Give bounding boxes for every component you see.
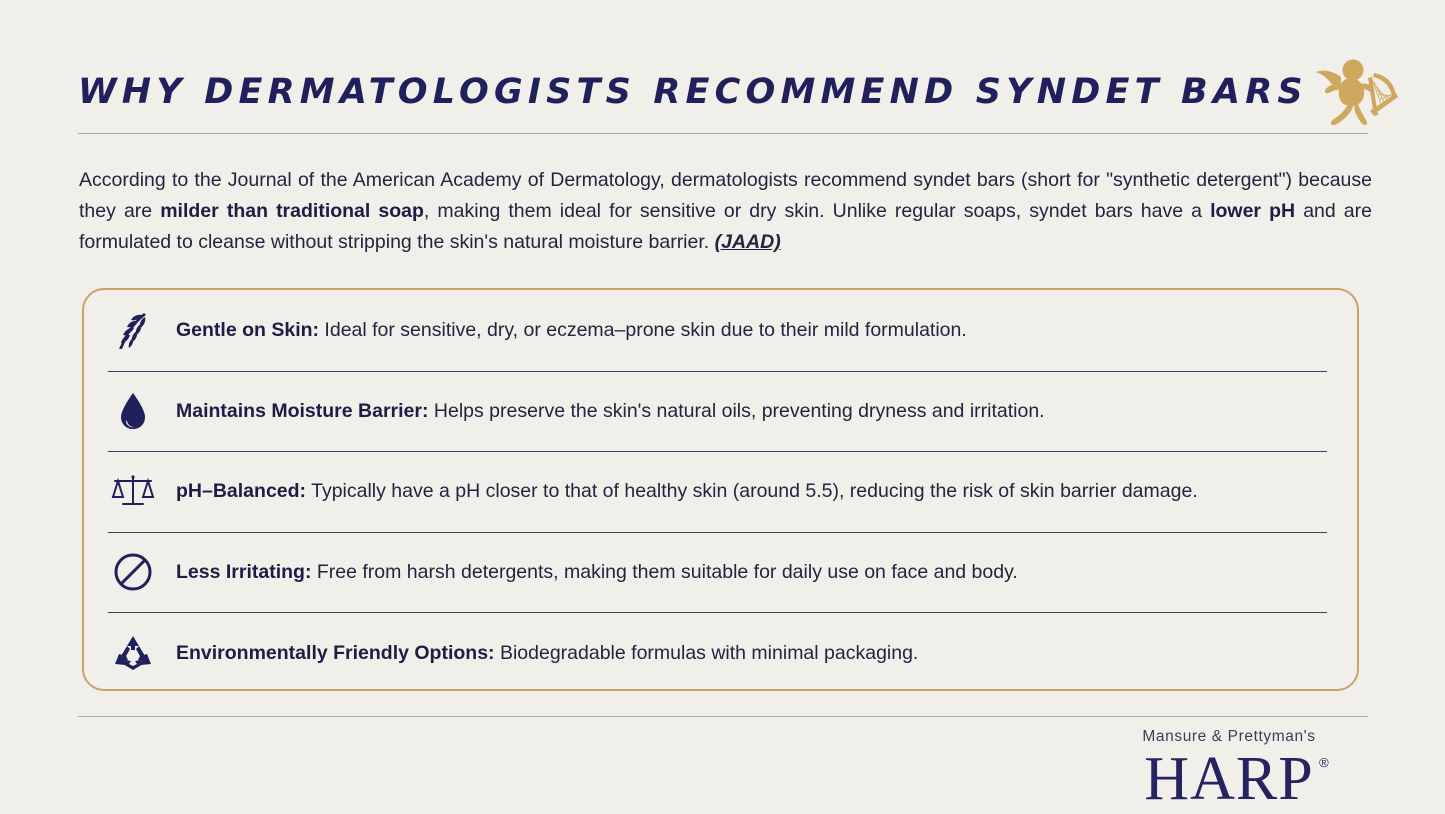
header: WHY DERMATOLOGISTS RECOMMEND SYNDET BARS xyxy=(78,58,1368,126)
benefit-description: Typically have a pH closer to that of he… xyxy=(306,480,1198,502)
brand-name: HARP xyxy=(1144,745,1313,813)
leaf-branch-icon xyxy=(110,308,156,352)
benefit-text: Environmentally Friendly Options: Biodeg… xyxy=(176,640,918,666)
benefits-box: Gentle on Skin: Ideal for sensitive, dry… xyxy=(82,288,1359,691)
benefit-description: Helps preserve the skin's natural oils, … xyxy=(428,400,1044,422)
benefit-row-ph-balanced: pH–Balanced: Typically have a pH closer … xyxy=(96,451,1327,532)
benefit-row-environmentally-friendly: Environmentally Friendly Options: Biodeg… xyxy=(96,612,1327,693)
benefit-label: Less Irritating: xyxy=(176,561,311,583)
citation-link[interactable]: (JAAD) xyxy=(715,231,781,253)
brand-logo: Mansure & Prettyman's HARP ® xyxy=(1089,729,1369,812)
infographic-page: WHY DERMATOLOGISTS RECOMMEND SYNDET BARS xyxy=(0,0,1445,814)
intro-text-part-2: , making them ideal for sensitive or dry… xyxy=(424,200,1210,222)
intro-bold-1: milder than traditional soap xyxy=(160,200,424,222)
benefit-row-gentle-on-skin: Gentle on Skin: Ideal for sensitive, dry… xyxy=(96,290,1327,371)
benefit-row-less-irritating: Less Irritating: Free from harsh deterge… xyxy=(96,532,1327,613)
benefit-text: Maintains Moisture Barrier: Helps preser… xyxy=(176,398,1045,424)
benefit-description: Free from harsh detergents, making them … xyxy=(311,561,1017,583)
benefit-label: Maintains Moisture Barrier: xyxy=(176,400,428,422)
page-title: WHY DERMATOLOGISTS RECOMMEND SYNDET BARS xyxy=(78,75,1308,110)
header-divider xyxy=(78,133,1368,134)
benefit-row-maintains-moisture-barrier: Maintains Moisture Barrier: Helps preser… xyxy=(96,371,1327,452)
benefit-label: pH–Balanced: xyxy=(176,480,306,502)
intro-bold-2: lower pH xyxy=(1210,200,1295,222)
brand-subtitle: Mansure & Prettyman's xyxy=(1089,729,1369,745)
benefit-label: Environmentally Friendly Options: xyxy=(176,642,495,664)
water-droplet-icon xyxy=(110,389,156,433)
registered-trademark-icon: ® xyxy=(1319,755,1329,770)
benefit-text: pH–Balanced: Typically have a pH closer … xyxy=(176,478,1198,504)
benefit-text: Gentle on Skin: Ideal for sensitive, dry… xyxy=(176,317,967,343)
benefit-description: Ideal for sensitive, dry, or eczema–pron… xyxy=(319,319,967,341)
prohibition-icon xyxy=(110,550,156,594)
intro-paragraph: According to the Journal of the American… xyxy=(79,165,1372,258)
benefit-text: Less Irritating: Free from harsh deterge… xyxy=(176,559,1018,585)
cherub-harp-icon xyxy=(1308,53,1404,131)
benefit-label: Gentle on Skin: xyxy=(176,319,319,341)
brand-name-wrap: HARP ® xyxy=(1144,747,1313,812)
benefit-description: Biodegradable formulas with minimal pack… xyxy=(495,642,919,664)
recycling-icon xyxy=(110,631,156,675)
footer-divider xyxy=(78,716,1368,717)
balance-scales-icon xyxy=(110,469,156,513)
